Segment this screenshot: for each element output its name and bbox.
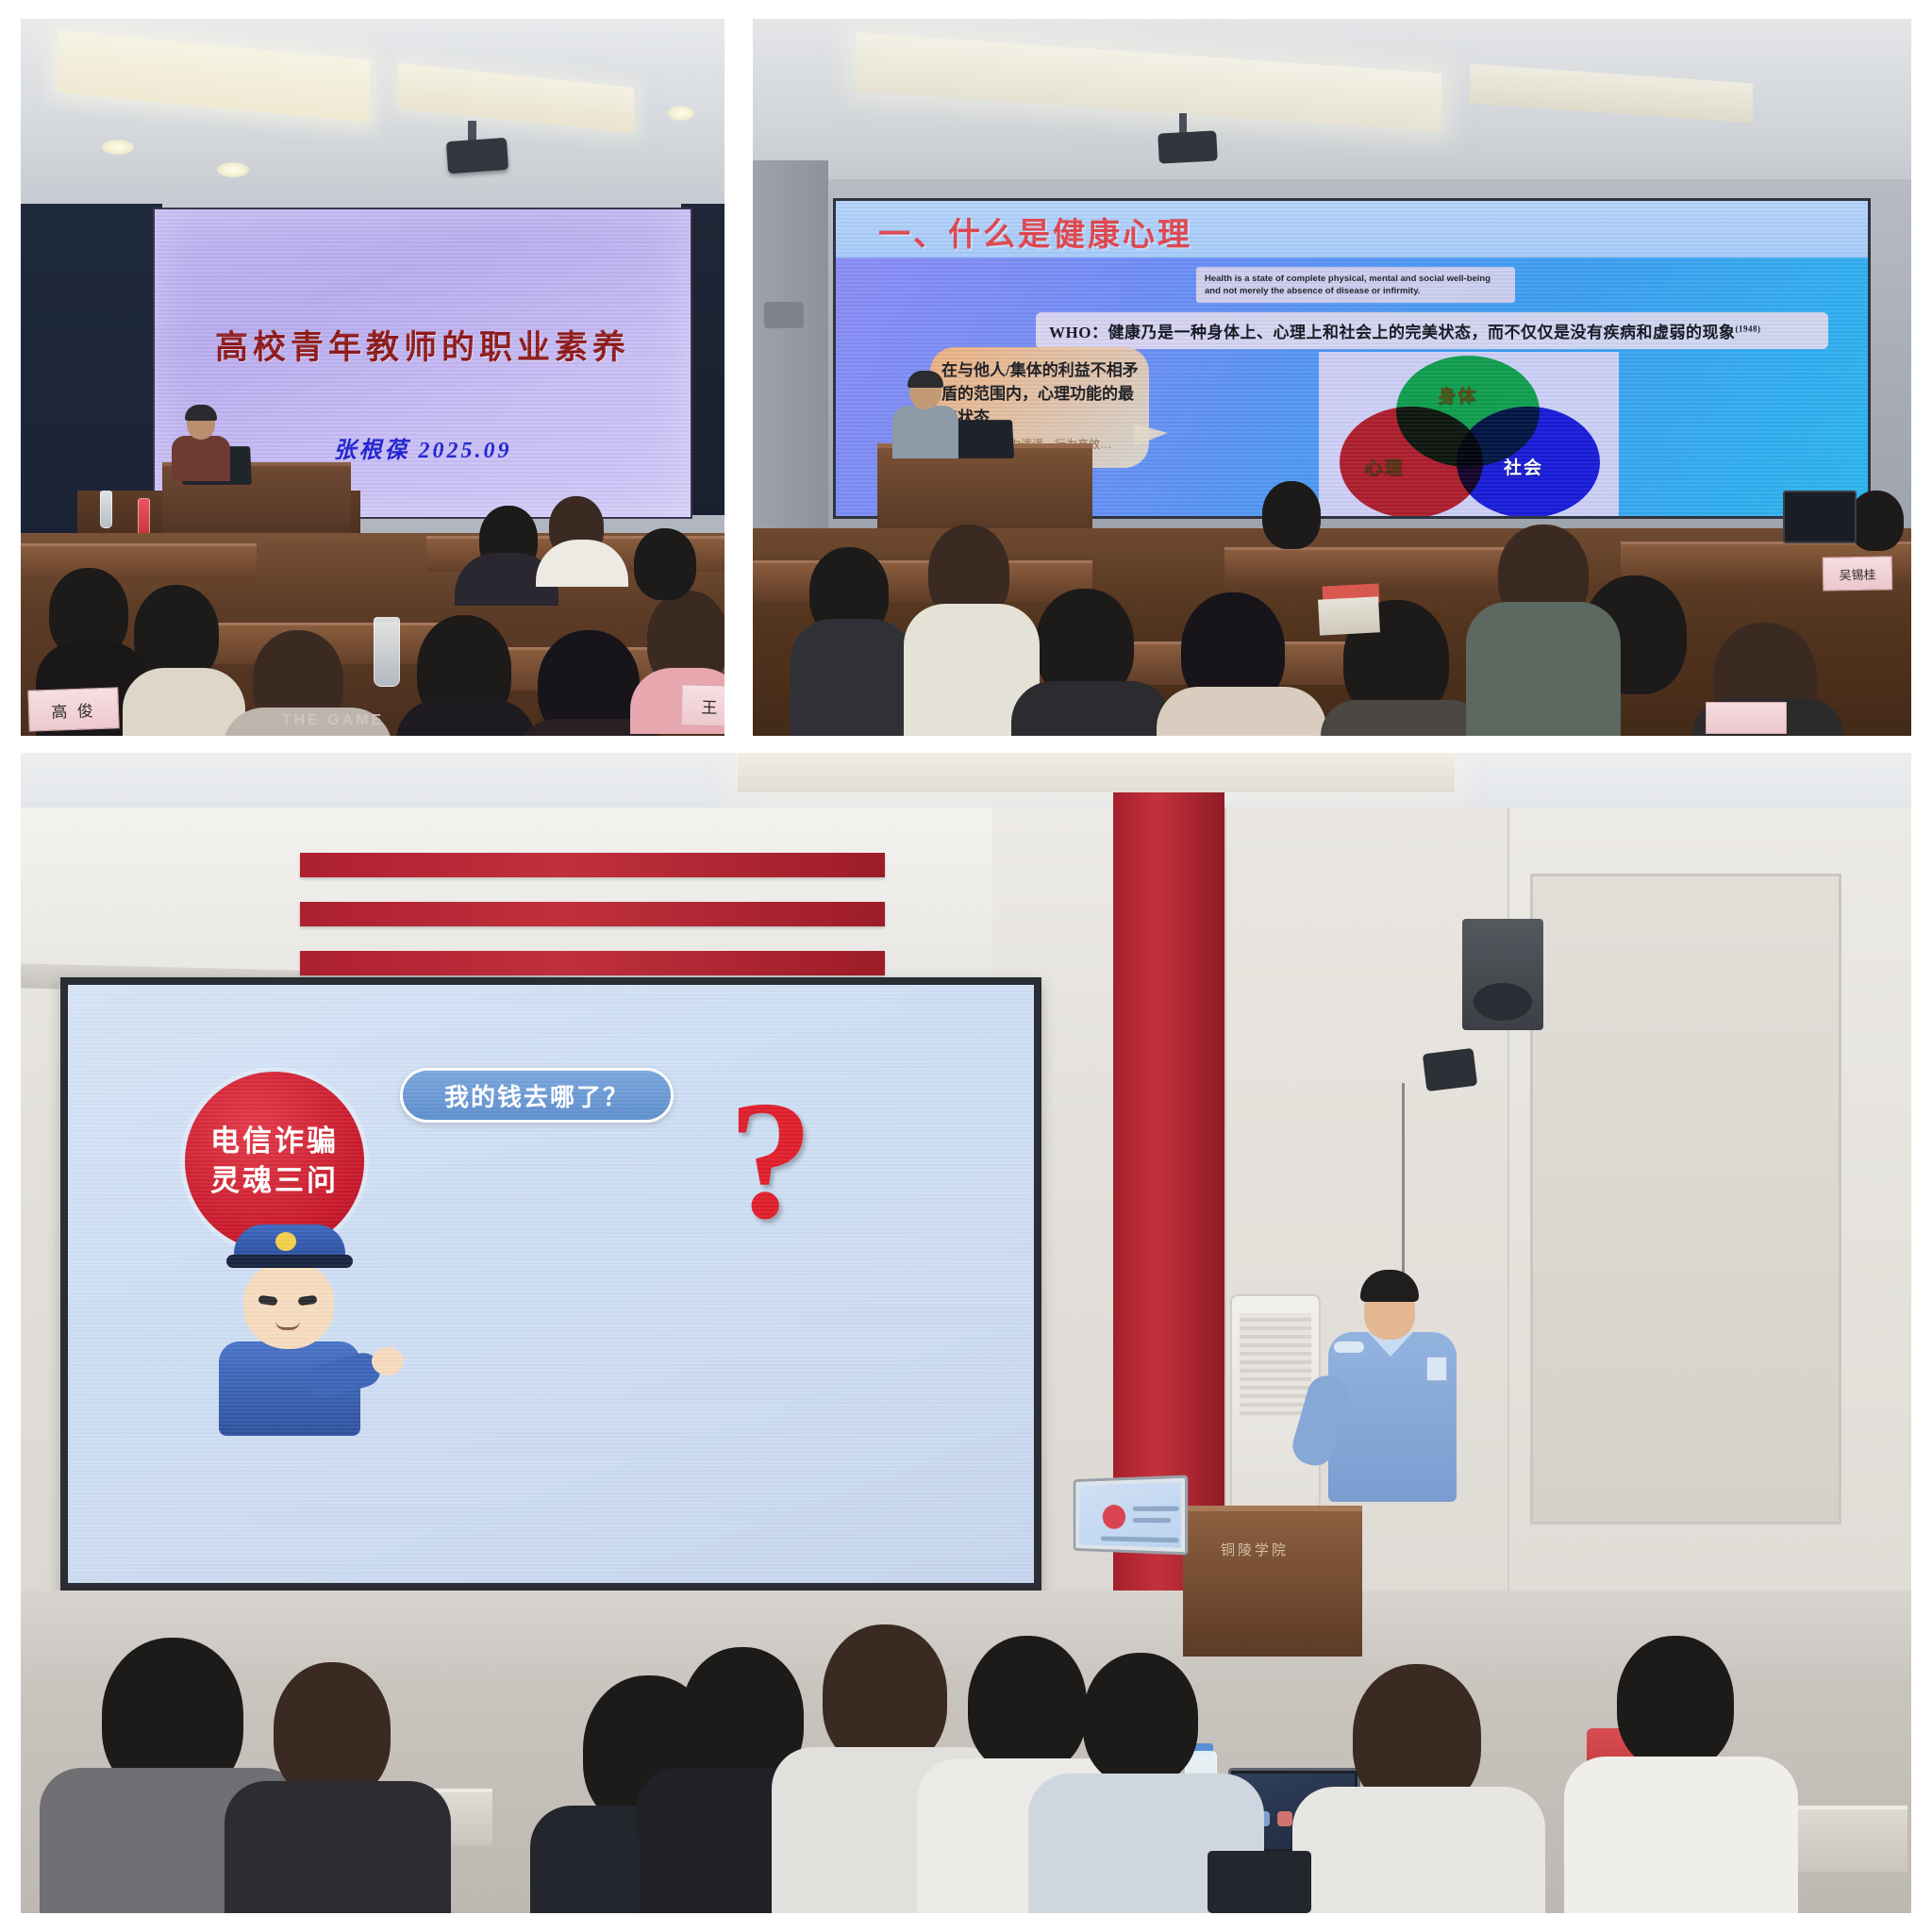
audience-shoulders: [1157, 687, 1326, 736]
photo-panel-lecture-3: 电信诈骗 灵魂三问 我的钱去哪了？ ?: [21, 751, 1911, 1913]
wall-red-stripe: [300, 853, 885, 877]
audience-head: [634, 528, 696, 600]
english-definition-box: Health is a state of complete physical, …: [1196, 267, 1515, 303]
desk-nameplate: [1706, 702, 1787, 734]
officer-badge: [1426, 1357, 1447, 1381]
cartoon-cop-hand: [372, 1347, 404, 1375]
downlight-icon: [217, 162, 249, 177]
water-bottle: [138, 498, 150, 536]
presenter-police-officer: [1323, 1270, 1464, 1581]
desk-nameplate: 吴锡桂: [1823, 556, 1893, 591]
venn-circle-society: [1457, 407, 1600, 518]
presenter-torso: [892, 406, 958, 458]
audience-shoulders: [1011, 681, 1172, 736]
downlight-icon: [668, 106, 694, 121]
air-conditioner-vent: [1240, 1313, 1311, 1417]
audience-head: [968, 1636, 1087, 1774]
cartoon-cop-hat: [234, 1224, 345, 1258]
cartoon-cop-body: [219, 1341, 360, 1436]
chair: [1207, 1851, 1311, 1913]
camera-cable: [1402, 1083, 1405, 1291]
english-definition-text: Health is a state of complete physical, …: [1205, 273, 1507, 297]
downlight-icon: [102, 140, 134, 155]
slide-banner-text: 我的钱去哪了？: [444, 1078, 629, 1113]
speech-bubble-main-text: 在与他人/集体的利益不相矛盾的范围内，心理功能的最佳状态: [941, 358, 1143, 429]
slide-badge: 电信诈骗 灵魂三问: [185, 1072, 364, 1251]
collage-gutter: [0, 736, 1932, 753]
slide-badge-line2: 灵魂三问: [210, 1161, 339, 1201]
venn-circle-mind: [1340, 407, 1483, 518]
audience-shoulders: [123, 668, 245, 736]
desk-nameplate: 王: [680, 684, 724, 727]
desk-nameplate: 高 俊: [27, 687, 119, 731]
audience-head: [274, 1662, 391, 1800]
officer-shoulder-board: [1334, 1341, 1364, 1353]
desk-row: [753, 560, 1092, 602]
who-statement-year: (1948): [1735, 324, 1760, 333]
audience-shoulders: [791, 619, 913, 736]
projector: [446, 138, 508, 174]
audience-head: [1083, 1653, 1198, 1785]
projection-screen: 电信诈骗 灵魂三问 我的钱去哪了？ ?: [60, 977, 1041, 1591]
ceiling-light-panel: [738, 751, 1455, 792]
slide-badge-line1: 电信诈骗: [210, 1122, 339, 1161]
audience-shoulders: [1466, 602, 1621, 736]
presenter-hair: [185, 405, 217, 421]
photo-panel-lecture-2: 一、什么是健康心理 Health is a state of complete …: [753, 19, 1911, 736]
who-statement-text: WHO：健康乃是一种身体上、心理上和社会上的完美状态，而不仅仅是没有疾病和虚弱的…: [1049, 319, 1815, 342]
audience-shoulders: [396, 700, 536, 736]
audience-shoulders: [1321, 700, 1487, 736]
cartoon-cop-face: [243, 1262, 334, 1349]
officer-hair: [1360, 1270, 1419, 1302]
book-stack: [1318, 596, 1380, 635]
laptop-app-icon: [1277, 1811, 1292, 1826]
chair: [549, 1832, 640, 1913]
slide-banner: 我的钱去哪了？: [400, 1068, 674, 1123]
water-cup: [374, 617, 400, 687]
audience-monitor: [1783, 491, 1857, 543]
cartoon-cop-hat-emblem: [275, 1232, 296, 1251]
speech-bubble-tail: [1134, 424, 1168, 446]
cartoon-cop-hat-brim: [226, 1255, 353, 1268]
who-statement-main: WHO：健康乃是一种身体上、心理上和社会上的完美状态，而不仅仅是没有疾病和虚弱的…: [1049, 324, 1735, 341]
security-camera: [1423, 1048, 1477, 1091]
presenter-laptop-screen: [1079, 1482, 1181, 1548]
collage-gutter: [726, 0, 753, 751]
audience-shoulders: [225, 1781, 451, 1913]
venn-diagram: 身体 心理 社会: [1319, 352, 1619, 517]
cartoon-cop-eye: [258, 1295, 277, 1307]
venn-label-society: 社会: [1504, 454, 1543, 479]
venn-label-body: 身体: [1438, 382, 1477, 408]
audience-head: [1262, 481, 1321, 549]
wall-mounted-device: [764, 302, 804, 328]
tshirt-text: THE GAME: [253, 712, 413, 729]
photo-panel-lecture-1: 高校青年教师的职业素养 张根葆 2025.09: [21, 19, 724, 736]
who-statement-box: WHO：健康乃是一种身体上、心理上和社会上的完美状态，而不仅仅是没有疾病和虚弱的…: [1036, 312, 1828, 349]
wall-red-stripe: [300, 902, 885, 926]
laptop-screen-line: [1133, 1507, 1179, 1511]
question-mark-icon: ?: [728, 1075, 813, 1245]
cartoon-cop-arm: [305, 1349, 385, 1402]
cartoon-cop-eye: [297, 1295, 317, 1307]
presenter-laptop: [1074, 1475, 1189, 1556]
cartoon-police-officer-icon: [209, 1221, 398, 1438]
wall-red-stripe: [300, 951, 885, 975]
door: [1530, 874, 1841, 1524]
laptop-screen-line: [1101, 1536, 1179, 1542]
presenter-torso: [172, 436, 230, 481]
venn-label-mind: 心理: [1364, 454, 1404, 479]
presenter-person: [172, 408, 230, 479]
audience-shoulders: [1564, 1757, 1798, 1913]
photo-collage: 高校青年教师的职业素养 张根葆 2025.09: [0, 0, 1932, 1932]
presenter-person: [892, 374, 958, 455]
audience-head: [1849, 491, 1904, 551]
venn-circle-body: [1396, 356, 1540, 467]
projector: [1158, 130, 1218, 163]
cartoon-cop-mouth: [275, 1321, 300, 1330]
water-bottle: [100, 491, 112, 528]
audience-shoulders: [1292, 1787, 1545, 1913]
slide-title: 高校青年教师的职业素养: [155, 321, 691, 369]
presenter-hair: [908, 371, 943, 388]
audience-head: [1617, 1636, 1734, 1770]
laptop-screen-thumbnail: [1103, 1505, 1125, 1529]
slide-title: 一、什么是健康心理: [878, 208, 1192, 255]
loudspeaker-grill: [1474, 983, 1532, 1021]
desk-row: [21, 543, 257, 581]
podium-logo: 铜陵学院: [1221, 1540, 1324, 1572]
slide-title-band: [836, 201, 1868, 258]
laptop-screen-line: [1133, 1518, 1171, 1523]
